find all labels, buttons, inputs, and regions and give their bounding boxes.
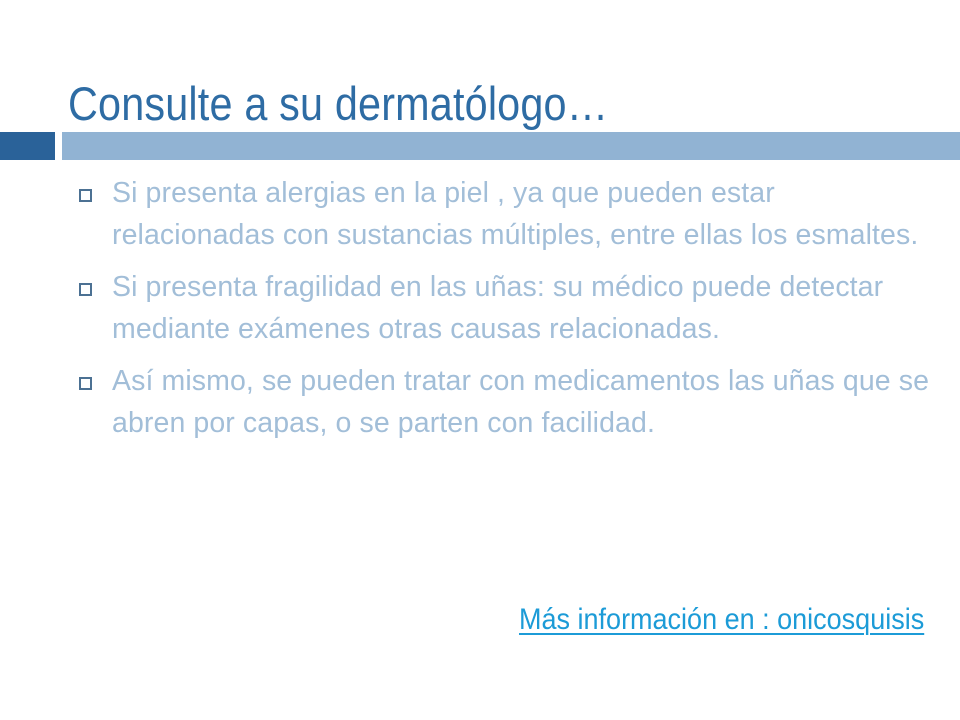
list-item-text: Así mismo, se pueden tratar con medicame… — [112, 360, 932, 444]
link-row: Más información en : onicosquisis — [0, 602, 924, 638]
page-title: Consulte a su dermatólogo… — [68, 75, 825, 133]
more-info-link[interactable]: Más información en : onicosquisis — [519, 602, 924, 638]
slide-canvas: Consulte a su dermatólogo… Si presenta a… — [0, 0, 960, 720]
divider-bar — [62, 132, 960, 160]
hollow-square-bullet-icon — [79, 283, 92, 296]
hollow-square-bullet-icon — [79, 189, 92, 202]
list-item: Si presenta fragilidad en las uñas: su m… — [72, 266, 932, 350]
hollow-square-bullet-icon — [79, 377, 92, 390]
divider-accent-block — [0, 132, 55, 160]
list-item-text: Si presenta fragilidad en las uñas: su m… — [112, 266, 932, 350]
list-item-text: Si presenta alergias en la piel , ya que… — [112, 172, 932, 256]
title-divider — [0, 132, 960, 160]
list-item: Así mismo, se pueden tratar con medicame… — [72, 360, 932, 444]
list-item: Si presenta alergias en la piel , ya que… — [72, 172, 932, 256]
bullet-list: Si presenta alergias en la piel , ya que… — [72, 172, 932, 454]
